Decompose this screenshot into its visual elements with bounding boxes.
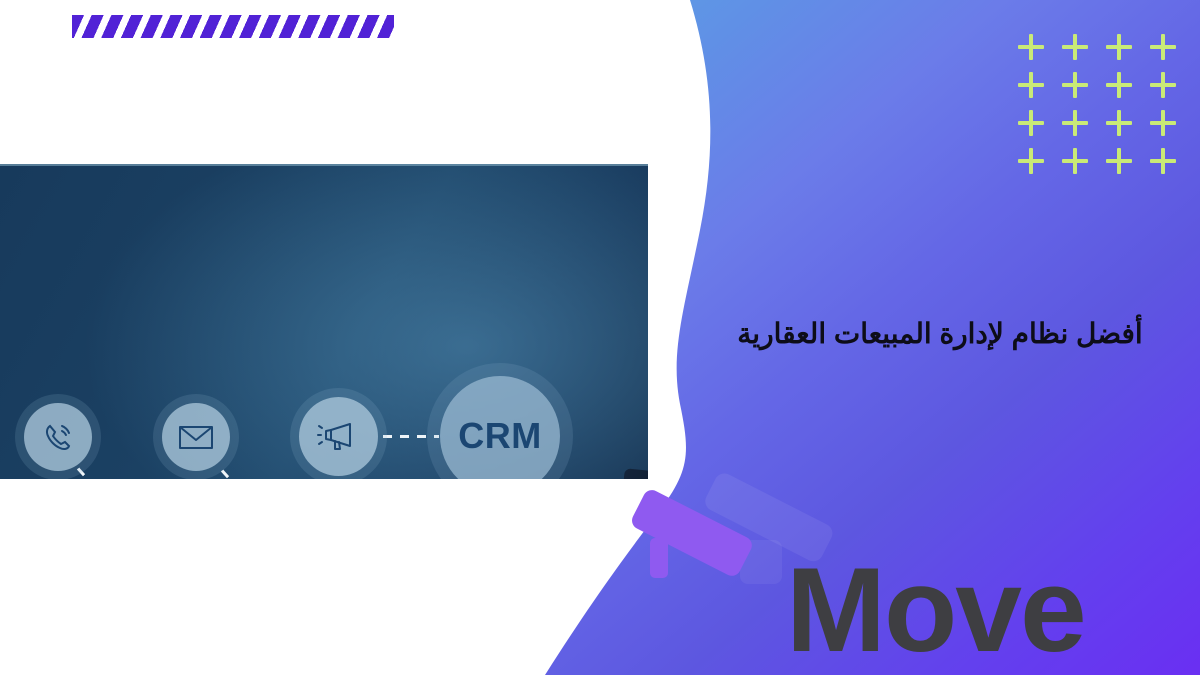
plus-sign-grid xyxy=(1012,32,1188,184)
plus-icon xyxy=(1144,146,1188,184)
crm-label: CRM xyxy=(458,415,541,457)
envelope-icon xyxy=(177,422,215,452)
node-email xyxy=(162,403,230,471)
plus-icon xyxy=(1056,108,1100,146)
brand-wordmark: Move xyxy=(786,550,1085,670)
plus-icon xyxy=(1056,70,1100,108)
diagonal-stripe-bar xyxy=(72,15,394,38)
crm-diagram-photo: CRM xyxy=(0,164,648,479)
plus-icon xyxy=(1056,32,1100,70)
photo-top-edge xyxy=(0,164,648,166)
plus-icon xyxy=(1144,108,1188,146)
phone-icon xyxy=(40,419,76,455)
suit-sleeve xyxy=(609,468,648,479)
plus-icon xyxy=(1100,108,1144,146)
poster-canvas: CRM أفضل نظام لإدارة المبيعات العقارية M… xyxy=(0,0,1200,675)
plus-icon xyxy=(1100,70,1144,108)
node-phone xyxy=(24,403,92,471)
plus-icon xyxy=(1100,146,1144,184)
page-title: أفضل نظام لإدارة المبيعات العقارية xyxy=(700,314,1180,354)
decor-bar-small xyxy=(650,538,668,578)
plus-icon xyxy=(1056,146,1100,184)
plus-icon xyxy=(1100,32,1144,70)
plus-icon xyxy=(1012,32,1056,70)
plus-icon xyxy=(1012,146,1056,184)
plus-icon xyxy=(1144,32,1188,70)
plus-icon xyxy=(1012,70,1056,108)
connector-line xyxy=(383,435,439,438)
plus-icon xyxy=(1012,108,1056,146)
megaphone-icon xyxy=(317,418,361,456)
node-megaphone xyxy=(299,397,378,476)
plus-icon xyxy=(1144,70,1188,108)
